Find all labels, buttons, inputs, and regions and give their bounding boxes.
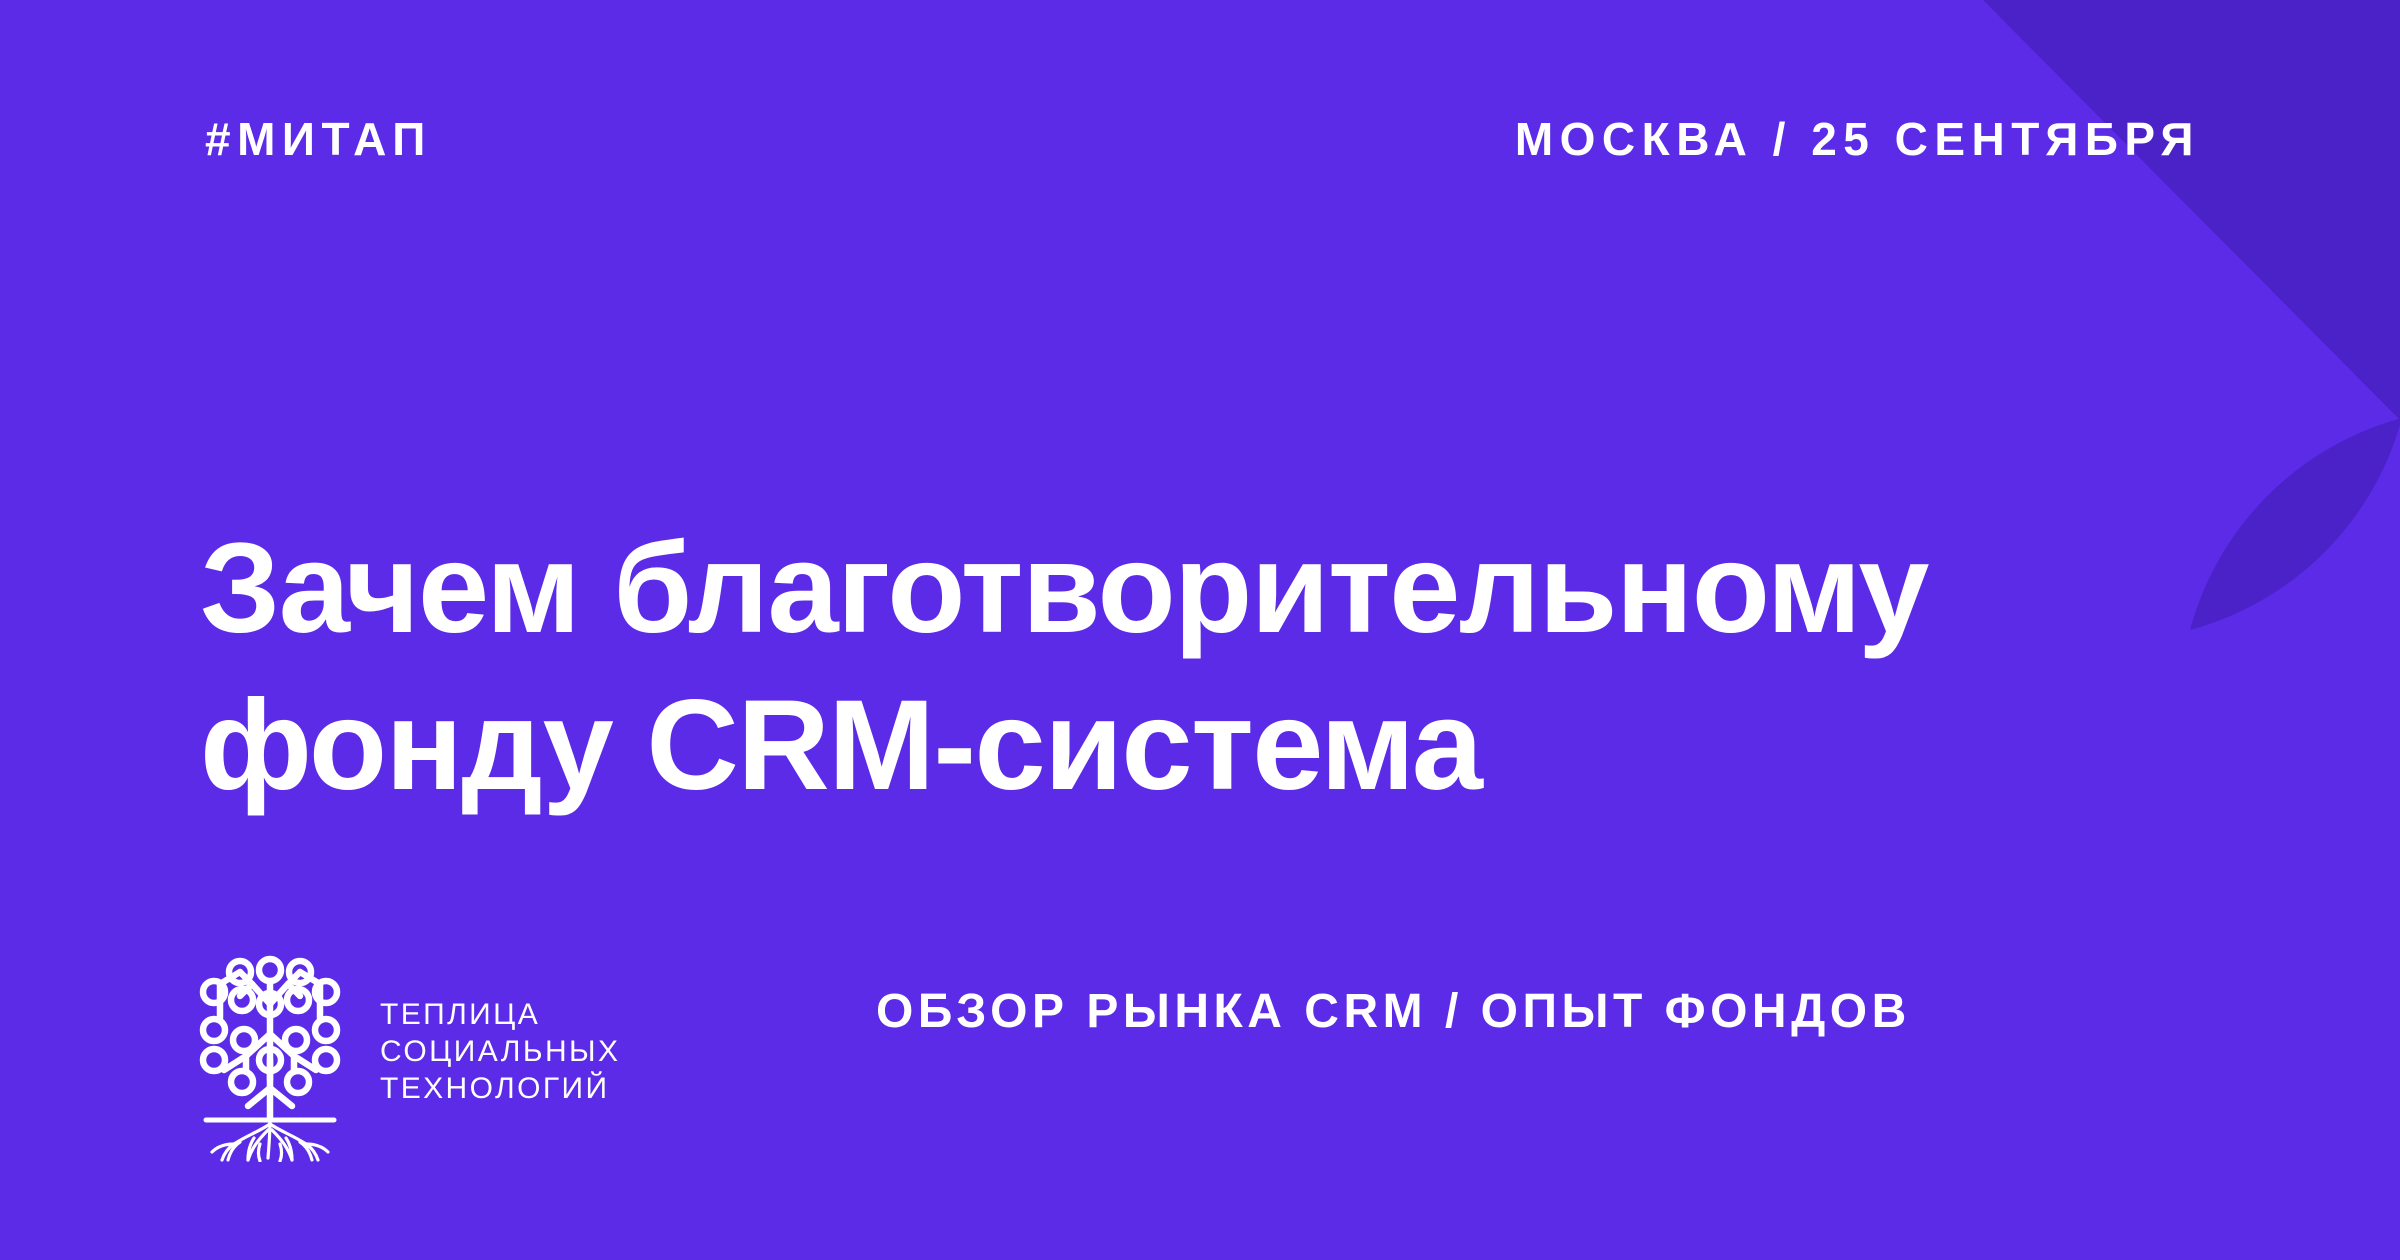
hashtag-label: #МИТАП [205,112,432,166]
logo-wordmark: ТЕПЛИЦА СОЦИАЛЬНЫХ ТЕХНОЛОГИЙ [380,996,620,1107]
event-announcement-banner: #МИТАП МОСКВА / 25 СЕНТЯБРЯ Зачем благот… [0,0,2400,1260]
headline-line-2: фонду CRM-система [200,667,2000,824]
decor-svg [1940,0,2400,700]
logo-wordmark-line-2: СОЦИАЛЬНЫХ [380,1033,620,1070]
banner-top-row: #МИТАП МОСКВА / 25 СЕНТЯБРЯ [0,112,2400,172]
event-location-date: МОСКВА / 25 СЕНТЯБРЯ [1515,112,2200,166]
organization-logo: ТЕПЛИЦА СОЦИАЛЬНЫХ ТЕХНОЛОГИЙ [196,948,620,1162]
headline-line-1: Зачем благотворительному [200,510,2000,667]
logo-wordmark-line-3: ТЕХНОЛОГИЙ [380,1070,620,1107]
corner-triangle-shape [1983,0,2400,420]
event-topics-tagline: ОБЗОР РЫНКА CRM / ОПЫТ ФОНДОВ [876,984,1911,1040]
page-title: Зачем благотворительному фонду CRM-систе… [200,510,2000,824]
banner-footer: ТЕПЛИЦА СОЦИАЛЬНЫХ ТЕХНОЛОГИЙ ОБЗОР РЫНК… [0,940,2400,1190]
tree-network-logo-icon [196,948,344,1162]
leaf-petal-shape [2190,418,2400,630]
logo-wordmark-line-1: ТЕПЛИЦА [380,996,620,1033]
